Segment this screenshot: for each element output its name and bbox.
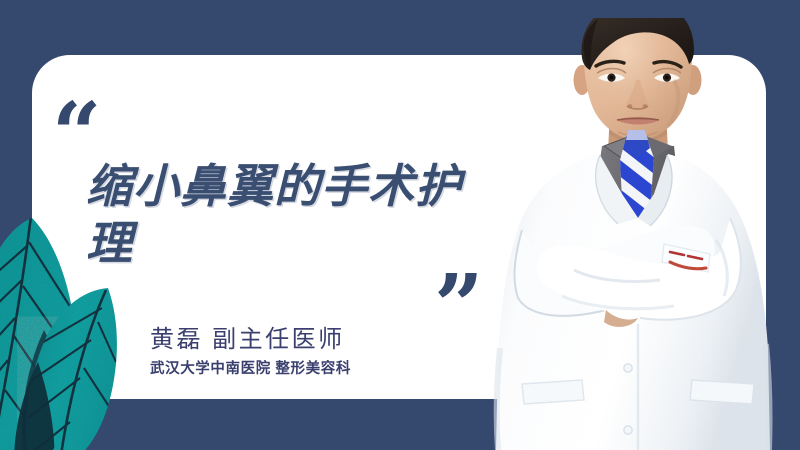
page-title: 缩小鼻翼的手术护理 bbox=[86, 158, 486, 272]
coat-button bbox=[624, 426, 632, 434]
author-affiliation: 武汉大学中南医院 整形美容科 bbox=[150, 360, 351, 378]
video-cover-card: “ ” 缩小鼻翼的手术护理 黄磊 副主任医师 武汉大学中南医院 整形美容科 bbox=[0, 0, 800, 450]
author-block: 黄磊 副主任医师 武汉大学中南医院 整形美容科 bbox=[150, 325, 351, 378]
author-name: 黄磊 副主任医师 bbox=[150, 325, 351, 355]
closing-quote-icon: ” bbox=[434, 264, 481, 350]
